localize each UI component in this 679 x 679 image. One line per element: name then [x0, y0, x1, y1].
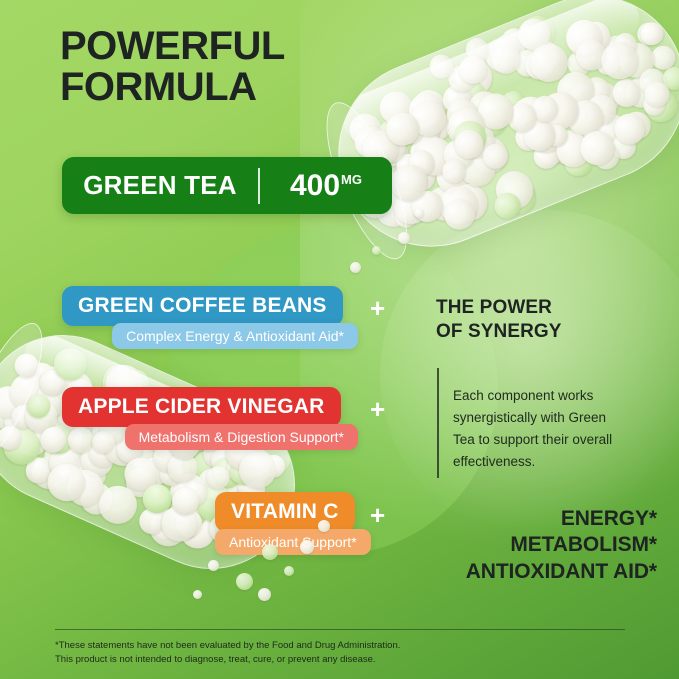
capsule-pellet	[156, 500, 203, 547]
capsule-pellet	[597, 31, 637, 71]
capsule-pellet	[411, 129, 448, 166]
capsule-pellet	[594, 49, 623, 78]
green-tea-dose: 400MG	[260, 169, 392, 203]
capsule-pellet	[487, 41, 525, 79]
capsule-pellet	[165, 502, 207, 544]
loose-pellet	[372, 246, 381, 255]
capsule-pellet	[179, 499, 211, 531]
capsule-pellet	[525, 39, 574, 88]
capsule-pellet	[449, 116, 491, 158]
capsule-pellet	[453, 76, 489, 112]
capsule-pellet	[506, 92, 554, 140]
capsule-pellet	[513, 13, 555, 55]
capsule-pellet	[4, 408, 42, 446]
loose-pellet	[318, 520, 330, 532]
capsule-pellet	[660, 64, 679, 94]
benefit-item: ENERGY*	[466, 506, 657, 532]
capsule-pellet	[63, 447, 100, 484]
capsule-pellet	[507, 178, 538, 209]
capsule-pellet	[404, 89, 449, 134]
capsule-pellet	[407, 85, 450, 128]
capsule-pellet	[121, 463, 161, 503]
capsule-pellet	[579, 73, 614, 108]
capsule-pellet	[440, 195, 480, 235]
capsule-pellet	[138, 480, 177, 519]
capsule-pellet	[516, 11, 560, 55]
capsule-pellet	[640, 90, 669, 119]
capsule-pellet	[439, 135, 478, 174]
capsule-pellet	[164, 496, 203, 535]
capsule-pellet	[406, 96, 451, 141]
capsule-pellet	[147, 505, 185, 543]
loose-pellet	[208, 560, 219, 571]
capsule-pellet	[410, 132, 459, 181]
capsule-pellet	[381, 108, 424, 151]
capsule-pellet	[156, 458, 187, 489]
capsule-pellet	[480, 33, 524, 77]
disclaimer-text: *These statements have not been evaluate…	[55, 639, 400, 668]
capsule-pellet	[138, 452, 175, 489]
capsule-pellet	[572, 84, 609, 121]
capsule-pellet	[551, 128, 596, 173]
capsule-pellet	[49, 343, 92, 386]
capsule-pellet	[0, 394, 20, 433]
capsule-pellet	[609, 131, 640, 162]
capsule-pellet	[344, 109, 387, 152]
capsule-pellet	[22, 454, 55, 487]
capsule-pellet	[61, 464, 110, 513]
capsule-rim	[0, 314, 57, 474]
capsule-pellet	[480, 140, 512, 172]
capsule-pellet	[417, 106, 456, 145]
green-tea-label: GREEN TEA	[62, 170, 258, 201]
capsule-pellet	[426, 51, 457, 82]
plus-icon: +	[370, 295, 385, 321]
capsule-pellet	[609, 75, 644, 110]
capsule-pellet	[634, 19, 664, 49]
capsule-pellet	[547, 125, 593, 171]
capsule-pellet	[398, 162, 431, 195]
capsule-pellet	[444, 61, 479, 96]
capsule-pellet	[42, 458, 92, 508]
capsule-pellet	[438, 80, 476, 118]
capsule-pellet	[542, 121, 571, 150]
capsule-pellet	[161, 497, 207, 543]
capsule-pellet	[490, 31, 524, 65]
capsule-pellet	[490, 166, 539, 215]
capsule-pellet	[641, 85, 679, 127]
capsule-pellet	[455, 146, 501, 192]
loose-pellet	[398, 232, 410, 244]
capsule-pellet	[582, 90, 621, 129]
capsule-pellet	[560, 144, 597, 181]
capsule-pellet	[520, 46, 559, 85]
capsule-pellet	[388, 185, 432, 229]
ingredient-vitamin-c: VITAMIN C Antioxidant Support*	[215, 492, 358, 555]
capsule-pellet	[23, 358, 60, 395]
capsule-pellet	[528, 92, 562, 126]
capsule-pellet	[0, 399, 44, 444]
capsule-pellet	[76, 478, 118, 520]
capsule-pellet	[392, 111, 429, 148]
capsule-pellet	[567, 80, 598, 111]
benefit-item: METABOLISM*	[466, 532, 657, 558]
capsule-pellet	[610, 109, 650, 149]
ingredient-benefit: Antioxidant Support*	[215, 529, 371, 555]
capsule-pellet	[439, 156, 470, 187]
capsule-pellet	[522, 110, 569, 157]
capsule-pellet	[385, 159, 433, 207]
capsule-pellet	[380, 118, 413, 151]
capsule-pellet	[466, 131, 513, 178]
capsule-pellet	[432, 155, 475, 198]
capsule-pellet	[596, 37, 644, 85]
capsule-pellet	[451, 126, 488, 163]
green-tea-hero-badge: GREEN TEA 400MG	[62, 157, 392, 214]
capsule-pellet	[519, 115, 560, 156]
capsule-pellet	[11, 420, 53, 462]
capsule-pellet	[444, 77, 482, 115]
capsule-pellet	[641, 78, 673, 110]
loose-pellet	[236, 573, 253, 590]
capsule-pellet	[422, 182, 466, 226]
disclaimer-divider	[55, 629, 625, 630]
capsule-pellet	[621, 73, 660, 112]
ingredient-name: GREEN COFFEE BEANS	[62, 286, 343, 326]
capsule-pellet	[575, 126, 619, 170]
capsule-pellet	[589, 139, 623, 173]
capsule-pellet	[575, 17, 615, 57]
capsule-pellet	[93, 480, 143, 530]
capsule-pellet	[456, 119, 500, 163]
dose-unit: MG	[341, 172, 362, 187]
capsule-pellet	[434, 180, 483, 229]
capsule-pellet	[20, 395, 63, 438]
capsule-pellet	[561, 15, 608, 62]
capsule-pellet	[445, 179, 493, 227]
capsule-pellet	[552, 66, 600, 114]
capsule-pellet	[511, 120, 546, 155]
page-title: POWERFUL FORMULA	[60, 26, 285, 108]
plus-icon: +	[370, 396, 385, 422]
capsule-pellet	[527, 37, 564, 74]
capsule-pellet	[376, 117, 405, 146]
ingredient-benefit-wrap: Complex Energy & Antioxidant Aid*	[62, 326, 358, 349]
capsule-pellet	[443, 109, 483, 149]
capsule-pellet	[4, 368, 52, 416]
capsule-pellet	[411, 114, 444, 147]
capsule-pellet	[406, 114, 443, 151]
capsule-pellet	[429, 142, 462, 175]
capsule-pellet	[648, 42, 679, 73]
capsule-pellet	[406, 136, 441, 171]
ingredient-apple-cider-vinegar: APPLE CIDER VINEGAR Metabolism & Digesti…	[62, 387, 358, 450]
capsule-pellet	[119, 452, 163, 496]
capsule-pellet	[579, 116, 618, 155]
product-infographic: POWERFUL FORMULA GREEN TEA 400MG GREEN C…	[0, 0, 679, 679]
capsule-pellet	[24, 391, 55, 422]
loose-pellet	[350, 262, 361, 273]
capsule-pellet	[175, 508, 221, 554]
ingredient-benefit: Complex Energy & Antioxidant Aid*	[112, 323, 358, 349]
capsule-pellet	[573, 26, 621, 74]
capsule-pellet	[490, 189, 525, 224]
synergy-body-text: Each component works synergistically wit…	[453, 385, 631, 472]
loose-pellet	[193, 590, 202, 599]
capsule-pellet	[635, 65, 670, 100]
capsule-pellet	[445, 106, 481, 142]
capsule-pellet	[571, 35, 611, 75]
capsule-pellet	[473, 88, 519, 134]
plus-icon: +	[370, 502, 385, 528]
capsule-pellet	[465, 86, 504, 125]
capsule-pellet	[611, 30, 640, 59]
ingredient-green-coffee-beans: GREEN COFFEE BEANS Complex Energy & Anti…	[62, 286, 358, 349]
capsule-pellet	[462, 34, 493, 65]
ingredient-name: APPLE CIDER VINEGAR	[62, 387, 341, 427]
loose-pellet	[262, 544, 278, 560]
capsule-pellet	[393, 150, 426, 183]
capsule-pellet	[401, 158, 439, 196]
benefit-item: ANTIOXIDANT AID*	[466, 559, 657, 585]
capsule-pellet	[592, 110, 632, 150]
capsule-pellet	[578, 76, 625, 123]
capsule-pellet	[408, 187, 448, 227]
loose-pellet	[300, 540, 314, 554]
capsule-pellet	[11, 350, 43, 382]
capsule-pellet	[0, 381, 29, 423]
capsule-pellet	[498, 87, 529, 118]
loose-pellet	[284, 566, 294, 576]
capsule-pellet	[614, 38, 659, 83]
capsule-pellet	[171, 512, 201, 542]
capsule-pellet	[562, 95, 608, 141]
capsule-pellet	[497, 25, 531, 59]
capsule-pellet	[0, 421, 47, 471]
capsule-pellet	[472, 101, 511, 140]
capsule-pellet	[374, 86, 417, 129]
capsule-pellet	[563, 47, 595, 79]
capsule-pellet	[636, 18, 666, 48]
capsule-pellet	[172, 507, 202, 537]
capsule-pellet	[530, 140, 563, 173]
loose-pellet	[414, 208, 424, 218]
capsule-pellet	[135, 504, 169, 538]
ingredient-benefit-wrap: Metabolism & Digestion Support*	[62, 427, 358, 450]
capsule-pellet	[168, 483, 204, 519]
capsule-pellet	[449, 53, 498, 102]
capsule-pellet	[510, 45, 545, 80]
capsule-pellet	[443, 102, 490, 149]
ingredient-name: VITAMIN C	[215, 492, 355, 532]
capsule-pellet	[618, 107, 655, 144]
capsule-pellet	[144, 503, 194, 553]
loose-pellet	[258, 588, 271, 601]
capsule-pellet	[454, 51, 490, 87]
synergy-vertical-rule	[437, 368, 439, 478]
capsule-pellet	[535, 86, 584, 135]
benefits-list: ENERGY* METABOLISM* ANTIOXIDANT AID*	[466, 506, 657, 585]
capsule-pellet	[12, 401, 54, 443]
ingredient-benefit-wrap: Antioxidant Support*	[215, 532, 358, 555]
capsule-pellet	[530, 129, 570, 169]
capsule-pellet	[504, 99, 542, 137]
capsule-pellet	[0, 422, 26, 454]
capsule-pellet	[26, 386, 67, 427]
capsule-pellet	[8, 401, 40, 433]
capsule-pellet	[405, 147, 438, 180]
capsule-pellet	[171, 506, 207, 542]
capsule-pellet	[27, 451, 70, 494]
capsule-pellet	[442, 94, 482, 134]
capsule-pellet	[595, 38, 631, 74]
ingredient-benefit: Metabolism & Digestion Support*	[125, 424, 358, 450]
capsule-pellet	[498, 176, 541, 219]
synergy-heading: THE POWER OF SYNERGY	[436, 296, 562, 344]
capsule-pellet	[62, 448, 111, 497]
dose-amount: 400	[290, 169, 340, 202]
